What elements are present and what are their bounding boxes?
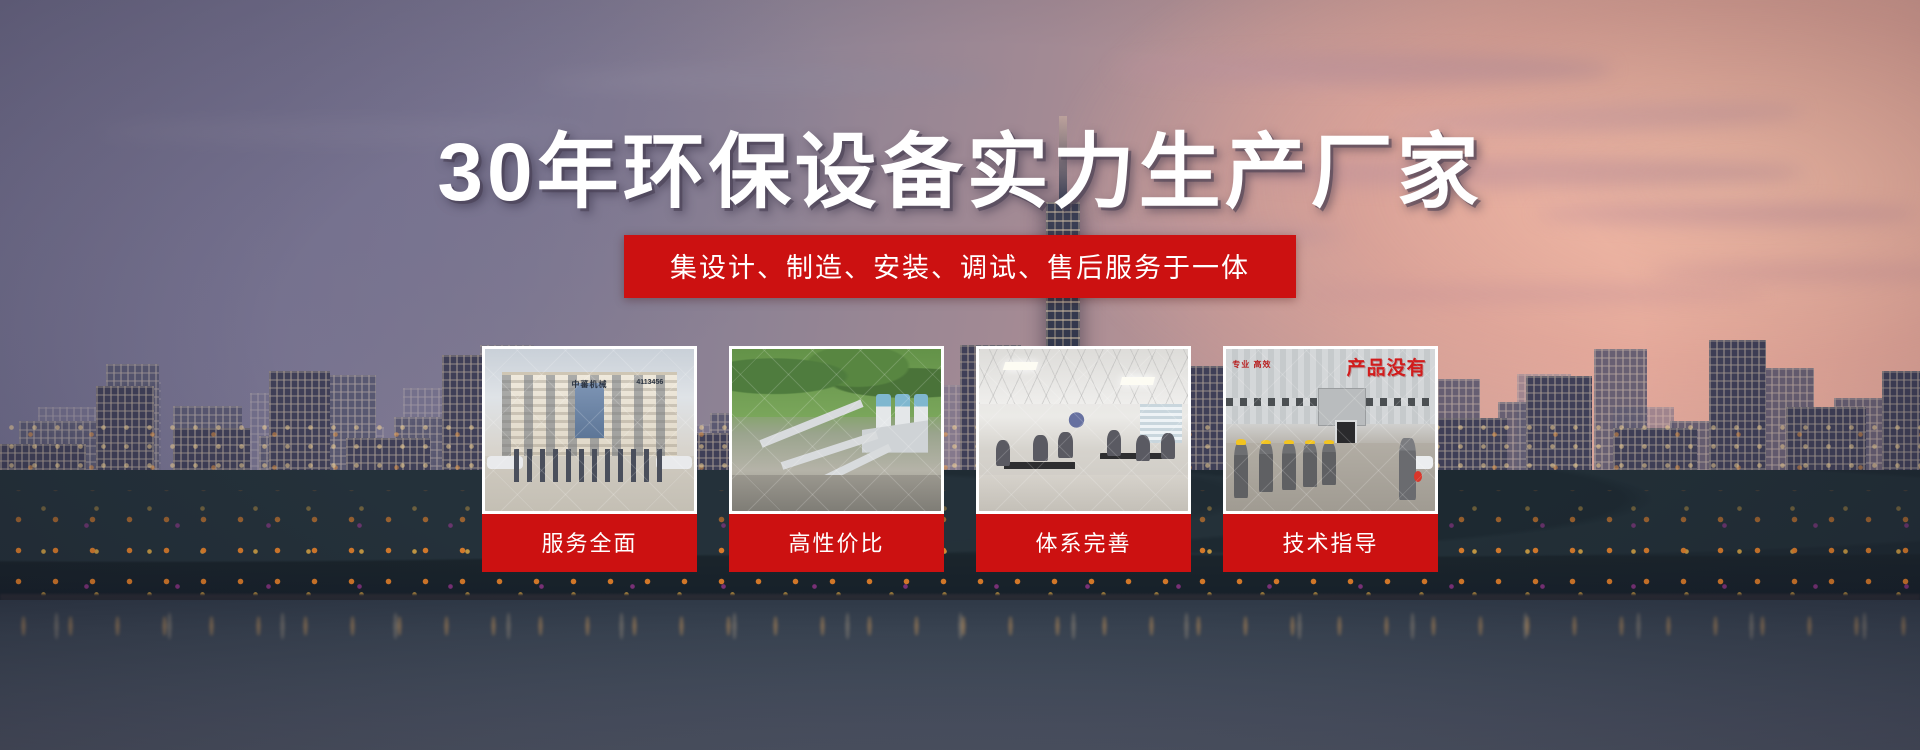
factory-sign-text: 产品没有 <box>1347 353 1427 380</box>
card-label: 服务全面 <box>482 514 697 572</box>
page-title: 30年环保设备实力生产厂家 <box>0 105 1920 224</box>
factory-slogan-text: 专业 高效 <box>1232 359 1271 370</box>
card-label: 体系完善 <box>976 514 1191 572</box>
card-label: 高性价比 <box>729 514 944 572</box>
card-photo-industrial-plant <box>729 346 944 514</box>
feature-card[interactable]: 高性价比 <box>729 346 944 572</box>
card-photo-factory-workers: 专业 高效 产品没有 <box>1223 346 1438 514</box>
subtitle-text: 集设计、制造、安装、调试、售后服务于一体 <box>670 246 1250 285</box>
feature-card[interactable]: 专业 高效 产品没有 技术指导 <box>1223 346 1438 572</box>
building-phone-text: 4113456 <box>636 379 663 386</box>
feature-card-list: 中蕃机械 4113456 服务全面 <box>482 346 1438 572</box>
hero-banner: 30年环保设备实力生产厂家 集设计、制造、安装、调试、售后服务于一体 中蕃机械 … <box>0 0 1920 750</box>
card-photo-office-interior <box>976 346 1191 514</box>
feature-card[interactable]: 中蕃机械 4113456 服务全面 <box>482 346 697 572</box>
banner-content: 30年环保设备实力生产厂家 集设计、制造、安装、调试、售后服务于一体 中蕃机械 … <box>0 0 1920 750</box>
feature-card[interactable]: 体系完善 <box>976 346 1191 572</box>
card-photo-headquarters: 中蕃机械 4113456 <box>482 346 697 514</box>
card-label: 技术指导 <box>1223 514 1438 572</box>
subtitle-banner: 集设计、制造、安装、调试、售后服务于一体 <box>624 235 1296 298</box>
